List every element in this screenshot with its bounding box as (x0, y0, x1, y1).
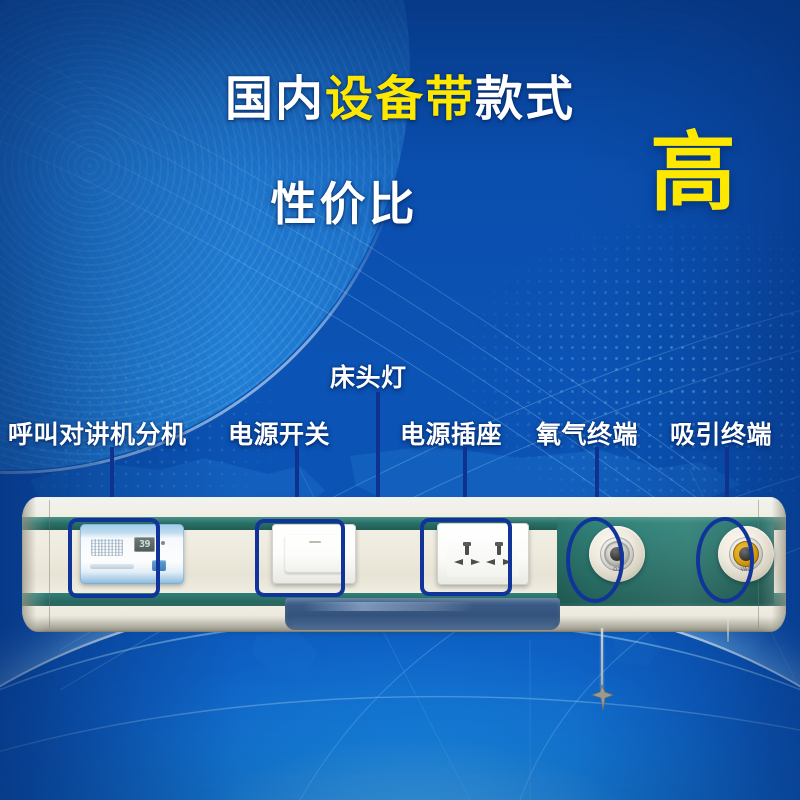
headline-emphasis-character: 高 (650, 130, 736, 216)
suction-drain-cord (601, 628, 603, 690)
callout-label-intercom: 呼叫对讲机分机 (8, 415, 187, 451)
product-banner: 国内设备带款式 性价比 高 呼叫对讲机分机 电源开关 床头灯 电源插座 氧气终端… (0, 0, 800, 800)
callout-label-oxygen: 氧气终端 (536, 415, 638, 451)
headline-part-2: 设备带 (325, 76, 475, 124)
cord-end-fitting (586, 683, 618, 713)
headline-part-1: 国内 (225, 76, 325, 124)
callout-label-suction: 吸引终端 (670, 415, 772, 451)
highlight-box-power-switch (255, 519, 345, 597)
terminal-cord-right (727, 620, 729, 642)
headline-subline: 性价比 (271, 168, 418, 234)
highlight-box-suction (696, 517, 754, 603)
bed-lamp-diffuser (285, 598, 560, 630)
highlight-box-intercom (68, 518, 160, 598)
headline-line-1: 国内设备带款式 (0, 76, 800, 124)
panel-seam-left (49, 500, 50, 628)
callout-label-power-switch: 电源开关 (228, 415, 330, 451)
panel-end-cap-left (22, 497, 48, 632)
headline-block: 国内设备带款式 性价比 (0, 76, 800, 124)
status-indicator-icon (161, 541, 165, 545)
headline-part-3: 款式 (475, 76, 575, 124)
lamp-highlight (303, 602, 473, 611)
highlight-box-oxygen (566, 517, 624, 603)
callout-label-bed-lamp: 床头灯 (330, 358, 407, 394)
highlight-box-power-socket (420, 518, 512, 596)
callout-label-power-socket: 电源插座 (400, 415, 502, 451)
